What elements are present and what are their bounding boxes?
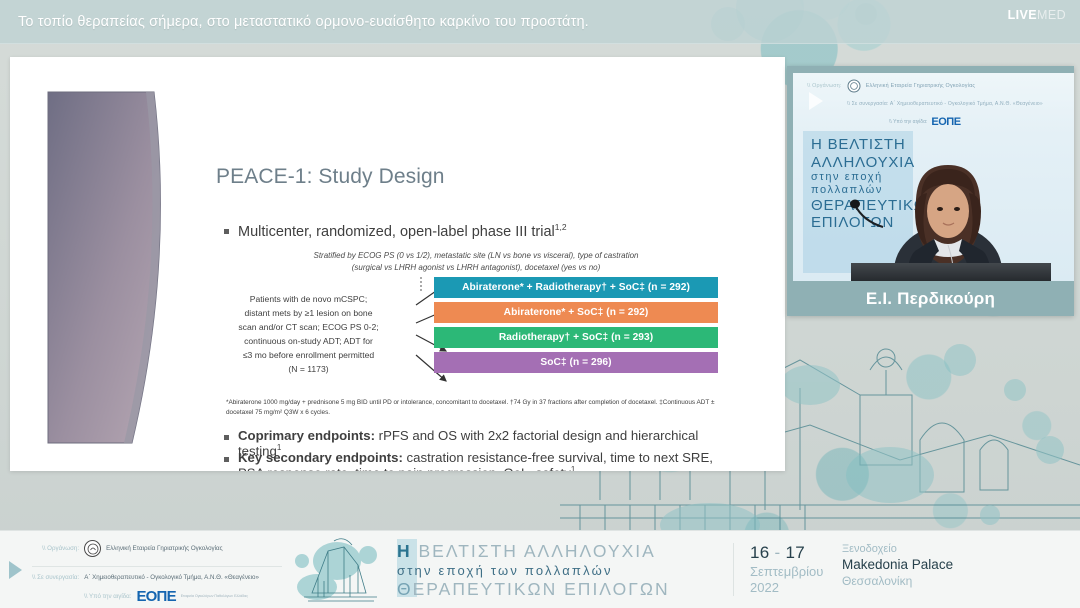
banner-divider	[733, 543, 734, 596]
bullet-square-icon	[224, 229, 229, 234]
treatment-arm-row: Abiraterone* + Radiotherapy† + SoC‡ (n =…	[434, 277, 718, 298]
coprimary-label: Coprimary endpoints:	[238, 428, 375, 443]
video-frame[interactable]: \\ Οργάνωση: Ελληνική Εταιρεία Γηριατρικ…	[793, 73, 1074, 281]
event-date-days: 16 - 17	[750, 543, 842, 563]
stratification-line-2: (surgical vs LHRH agonist vs LHRH antago…	[276, 262, 676, 274]
cooperation-name: Α΄ Χημειοθεραπευτικό - Ογκολογικό Τμήμα,…	[84, 574, 259, 581]
secondary-value-line2: PSA response rate, time to pain progress…	[238, 465, 713, 471]
event-title-line-1: Η ΒΕΛΤΙΣΤΗ ΑΛΛΗΛΟΥΧΙΑ	[397, 541, 717, 562]
patient-line: ≤3 mo before enrollment permitted	[206, 349, 411, 363]
speaker-avatar	[881, 153, 1016, 281]
eope-logo-subtitle: Εταιρεία Ογκολόγων Παθολόγων Ελλάδας	[181, 594, 248, 598]
play-button-icon[interactable]	[809, 92, 823, 110]
treatment-arms-list: Abiraterone* + Radiotherapy† + SoC‡ (n =…	[434, 277, 718, 377]
treatment-arm-label: Abiraterone* + SoC‡ (n = 292)	[504, 307, 649, 318]
venue-city: Θεσσαλονίκη	[842, 574, 1012, 588]
patient-line: (N = 1173)	[206, 363, 411, 377]
footnote-line-1: *Abiraterone 1000 mg/day + prednisone 5 …	[226, 399, 619, 406]
top-header-bar: Το τοπίο θεραπείας σήμερα, στο μεταστατι…	[0, 0, 1080, 44]
organizer-name: Ελληνική Εταιρεία Γηριατρικής Ογκολογίας	[106, 545, 222, 552]
backdrop-aegis-row: \\ Υπό την αιγίδα: ΕΟΠΕ	[889, 116, 961, 128]
secondary-text-wrap: Key secondary endpoints: castration resi…	[238, 450, 713, 471]
patient-line: continuous on-study ADT; ADT for	[206, 335, 411, 349]
backdrop-organizer-name: Ελληνική Εταιρεία Γηριατρικής Ογκολογίας	[866, 83, 975, 89]
patient-line: distant mets by ≥1 lesion on bone	[206, 307, 411, 321]
slide-viewer[interactable]: PEACE-1: Study Design Multicenter, rando…	[10, 57, 785, 471]
livemed-logo: LIVEMED	[1008, 8, 1066, 22]
bottom-event-banner: \\ Οργάνωση: Ελληνική Εταιρεία Γηριατρικ…	[0, 530, 1080, 608]
event-title-line3-rest: ΕΡΑΠΕΥΤΙΚΩΝ ΕΠΙΛΟΓΩΝ	[413, 579, 670, 599]
session-title: Το τοπίο θεραπείας σήμερα, στο μεταστατι…	[0, 14, 589, 30]
event-venue-block: Ξενοδοχείο Makedonia Palace Θεσσαλονίκη	[842, 531, 1012, 608]
treatment-arm-label: SoC‡ (n = 296)	[540, 357, 611, 368]
secondary-sup: 1	[571, 465, 575, 471]
eope-logo-mini: ΕΟΠΕ	[931, 116, 960, 128]
speaker-video-panel[interactable]: \\ Οργάνωση: Ελληνική Εταιρεία Γηριατρικ…	[787, 66, 1074, 316]
podium	[851, 263, 1051, 281]
treatment-arm-row: Abiraterone* + SoC‡ (n = 292)	[434, 302, 718, 323]
secondary-value: castration resistance-free survival, tim…	[403, 450, 713, 465]
event-title-line1-first: Η	[397, 541, 412, 561]
banner-play-icon[interactable]	[9, 561, 22, 579]
monument-illustration-wrap	[282, 531, 397, 608]
event-date-dash: -	[770, 543, 786, 562]
slide-content: PEACE-1: Study Design Multicenter, rando…	[10, 57, 785, 471]
event-title-line3-first: Θ	[397, 579, 413, 599]
screen-root: Το τοπίο θεραπείας σήμερα, στο μεταστατι…	[0, 0, 1080, 608]
slide-decorative-shape	[46, 90, 171, 445]
bullet-main: Multicenter, randomized, open-label phas…	[224, 222, 567, 240]
patient-line: scan and/or CT scan; ECOG PS 0-2;	[206, 321, 411, 335]
treatment-arm-row: SoC‡ (n = 296)	[434, 352, 718, 373]
backdrop-organizer-row: \\ Οργάνωση: Ελληνική Εταιρεία Γηριατρικ…	[807, 79, 1074, 93]
eepo-society-logo-icon	[847, 79, 861, 93]
monument-illustration	[282, 531, 397, 608]
bullet-square-icon	[224, 457, 229, 462]
eepo-society-logo-icon	[84, 540, 101, 557]
stratification-note: Stratified by ECOG PS (0 vs 1/2), metast…	[276, 250, 676, 273]
bullet-secondary-endpoints: Key secondary endpoints: castration resi…	[224, 450, 744, 471]
organizer-slashes: \\ Οργάνωση:	[42, 545, 79, 552]
livemed-live: LIVE	[1008, 8, 1037, 22]
backdrop-title-l1: Η ΒΕΛΤΙΣΤΗ	[811, 136, 937, 154]
event-date-month: Σεπτεμβρίου	[750, 564, 842, 579]
bullet-main-sup: 1,2	[555, 222, 567, 232]
organizer-line: \\ Οργάνωση: Ελληνική Εταιρεία Γηριατρικ…	[42, 540, 282, 557]
aegis-line: \\ Υπό την αιγίδα: ΕΟΠΕ Εταιρεία Ογκολόγ…	[84, 589, 282, 604]
bullet-main-text: Multicenter, randomized, open-label phas…	[238, 222, 567, 240]
organizers-block: \\ Οργάνωση: Ελληνική Εταιρεία Γηριατρικ…	[32, 531, 282, 608]
microphone-icon	[849, 199, 885, 229]
venue-name: Makedonia Palace	[842, 557, 1012, 572]
stratification-line-1: Stratified by ECOG PS (0 vs 1/2), metast…	[276, 250, 676, 262]
patient-line: Patients with de novo mCSPC;	[206, 293, 411, 307]
cooperation-line: \\ Σε συνεργασία: Α΄ Χημειοθεραπευτικό -…	[32, 566, 282, 581]
patient-population-box: Patients with de novo mCSPC; distant met…	[206, 293, 411, 377]
slide-footnote: *Abiraterone 1000 mg/day + prednisone 5 …	[226, 398, 720, 419]
livemed-med: MED	[1037, 8, 1066, 22]
event-title-line-3: ΘΕΡΑΠΕΥΤΙΚΩΝ ΕΠΙΛΟΓΩΝ	[397, 579, 717, 600]
event-date-day-start: 16	[750, 543, 770, 562]
speaker-name-label: Ε.Ι. Περδικούρη	[787, 282, 1074, 316]
event-date-day-end: 17	[786, 543, 806, 562]
event-title-line1-rest: ΒΕΛΤΙΣΤΗ ΑΛΛΗΛΟΥΧΙΑ	[412, 541, 656, 561]
venue-label: Ξενοδοχείο	[842, 543, 1012, 555]
treatment-arm-label: Abiraterone* + Radiotherapy† + SoC‡ (n =…	[462, 282, 690, 293]
conference-backdrop-slide: \\ Οργάνωση: Ελληνική Εταιρεία Γηριατρικ…	[793, 73, 1074, 281]
backdrop-aegis-label: \\ Υπό την αιγίδα:	[889, 119, 927, 125]
event-dates-block: 16 - 17 Σεπτεμβρίου 2022	[750, 531, 842, 608]
event-title-block: Η ΒΕΛΤΙΣΤΗ ΑΛΛΗΛΟΥΧΙΑ στην εποχή των πολ…	[397, 531, 717, 608]
treatment-arm-row: Radiotherapy† + SoC‡ (n = 293)	[434, 327, 718, 348]
backdrop-organizer-slashes: \\ Οργάνωση:	[807, 83, 842, 89]
slide-title: PEACE-1: Study Design	[216, 165, 445, 189]
treatment-arm-label: Radiotherapy† + SoC‡ (n = 293)	[499, 332, 653, 343]
aegis-slashes: \\ Υπό την αιγίδα:	[84, 593, 131, 600]
event-date-year: 2022	[750, 580, 842, 595]
cooperation-slashes: \\ Σε συνεργασία:	[32, 574, 79, 581]
event-title-line-2: στην εποχή των πολλαπλών	[397, 563, 717, 578]
eope-logo: ΕΟΠΕ	[136, 589, 175, 604]
backdrop-cooperation-row: \\ Σε συνεργασία: Α΄ Χημειοθεραπευτικό -…	[847, 101, 1043, 107]
bullet-square-icon	[224, 435, 229, 440]
secondary-label: Key secondary endpoints:	[238, 450, 403, 465]
